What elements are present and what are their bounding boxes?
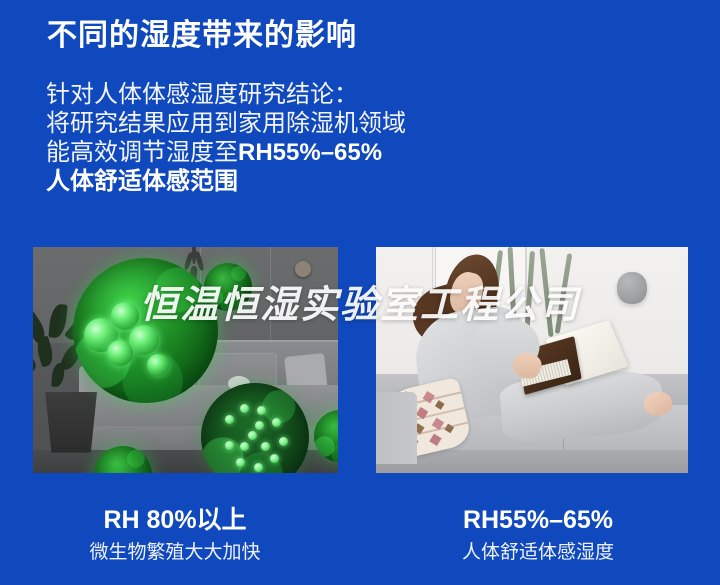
caption-high-humidity: RH 80%以上 微生物繁殖大大加快 [5,505,345,564]
virus-sphere-icon [201,383,309,473]
microbe-small-icon-1 [204,263,252,311]
intro-line-2: 将研究结果应用到家用除湿机领域 [46,109,506,138]
microbe-small-icon-3 [314,410,338,462]
right-sofa-arm [376,392,417,464]
wall-speaker-icon [617,272,647,304]
caption-left-title: RH 80%以上 [5,505,345,535]
intro-line-1: 针对人体体感湿度研究结论： [46,80,506,109]
intro-line-3: 能高效调节湿度至RH55%–65% [46,138,506,167]
microbe-cluster-large-icon [73,258,218,403]
page-title: 不同的湿度带来的影响 [47,17,357,55]
photo-panel-comfort-humidity [376,247,688,473]
photo-panel-high-humidity [33,247,338,473]
bacteria-cluster [84,302,186,392]
intro-line-3-plain: 能高效调节湿度至 [46,139,238,166]
microbe-small-icon-2 [94,446,152,473]
caption-right-subtitle: 人体舒适体感湿度 [368,541,708,564]
caption-right-title: RH55%–65% [368,505,708,535]
humidity-infographic-poster: 不同的湿度带来的影响 针对人体体感湿度研究结论： 将研究结果应用到家用除湿机领域… [0,0,720,585]
intro-line-3-highlight: RH55%–65% [238,139,382,166]
caption-comfort-humidity: RH55%–65% 人体舒适体感湿度 [368,505,708,564]
caption-left-subtitle: 微生物繁殖大大加快 [5,541,345,564]
intro-text-block: 针对人体体感湿度研究结论： 将研究结果应用到家用除湿机领域 能高效调节湿度至RH… [46,80,506,196]
intro-line-4: 人体舒适体感范围 [46,167,506,196]
left-wall-ornament-icon [295,261,311,277]
